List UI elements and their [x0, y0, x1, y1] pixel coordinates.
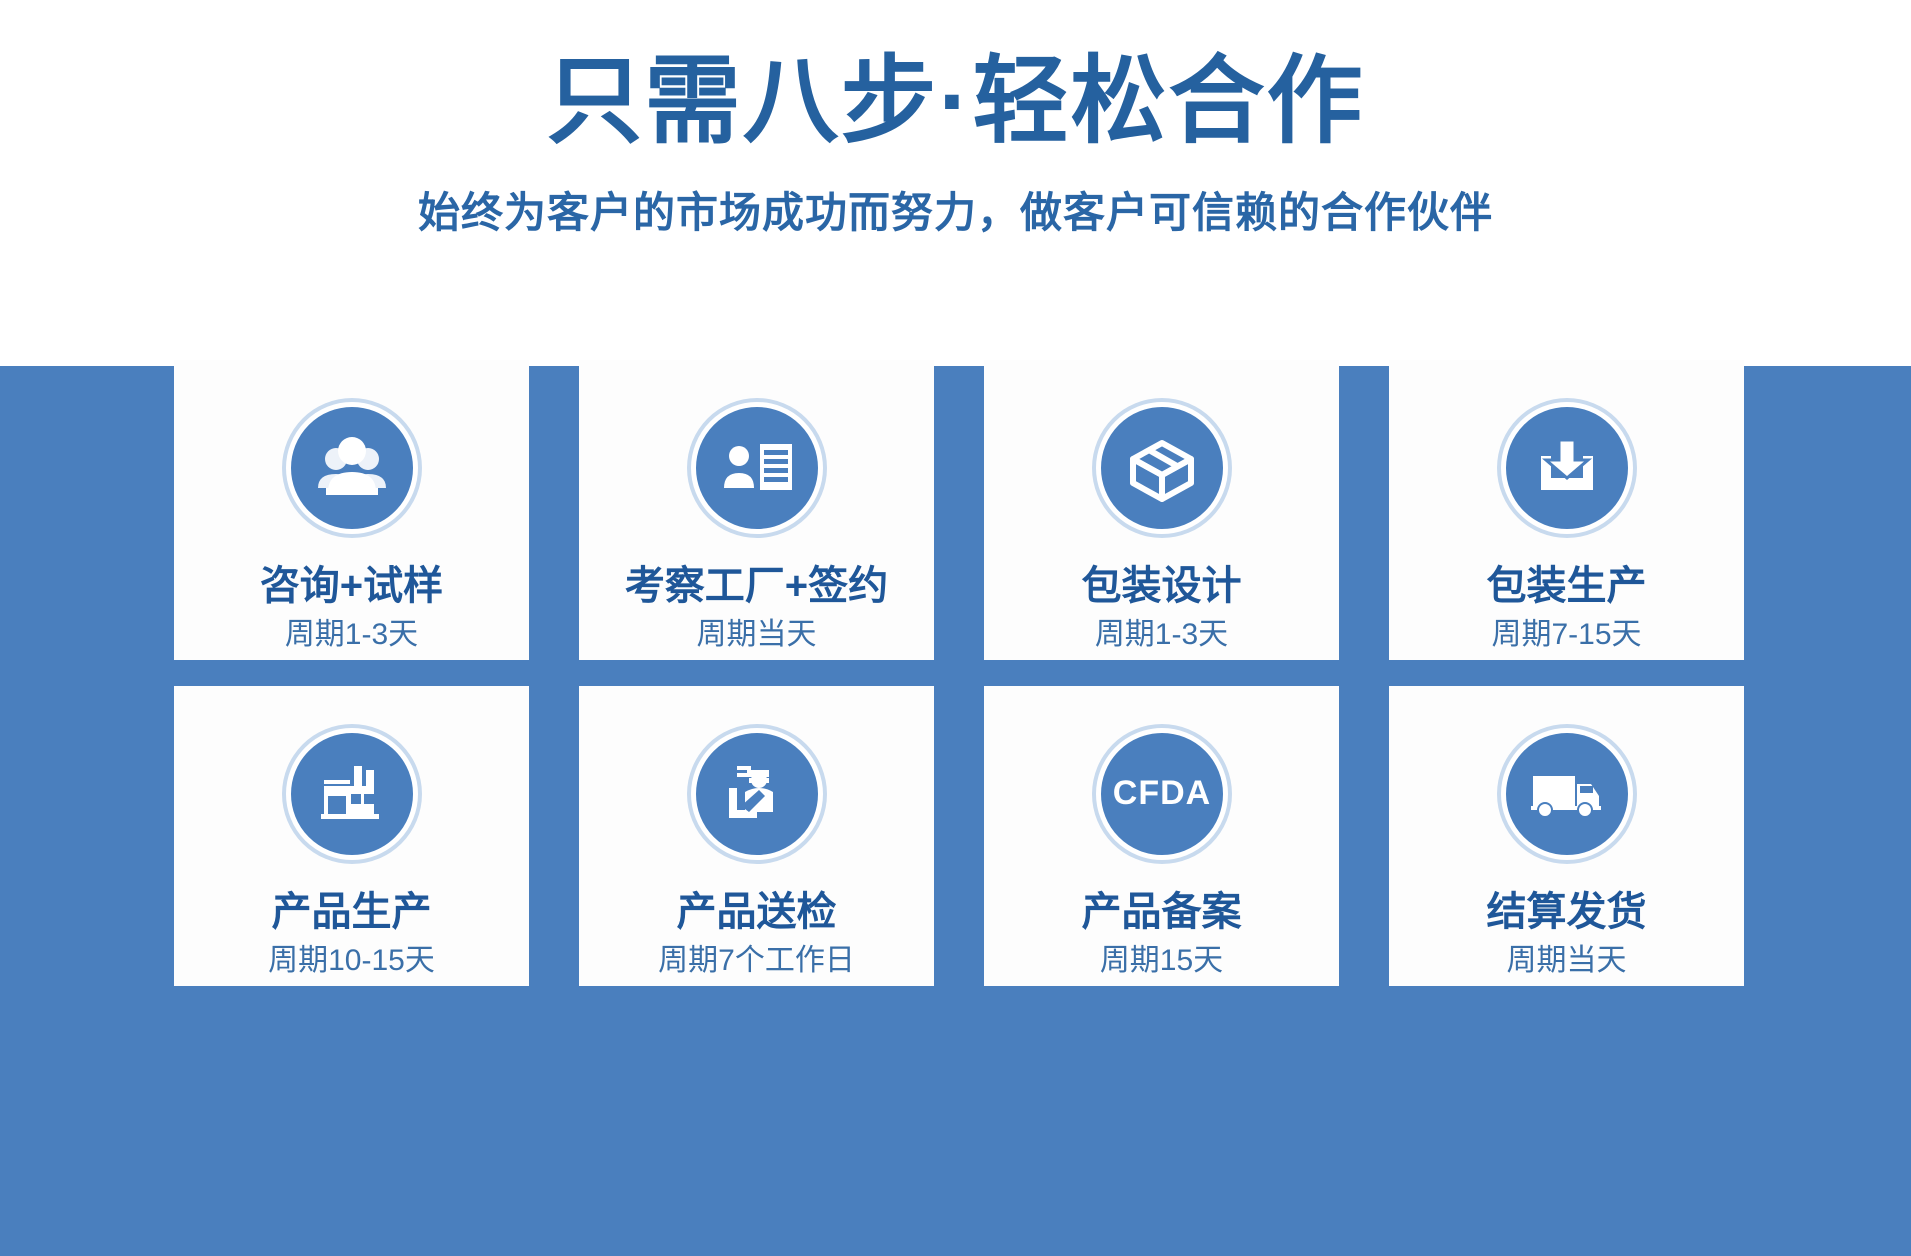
step-title: 包装生产 [1487, 564, 1647, 608]
step-title: 产品备案 [1082, 890, 1242, 934]
page-subtitle: 始终为客户的市场成功而努力，做客户可信赖的合作伙伴 [418, 179, 1493, 240]
inspector-officer-icon [691, 728, 823, 860]
step-card-8[interactable]: 结算发货 周期当天 [1389, 686, 1744, 986]
cfda-badge-icon: CFDA [1096, 728, 1228, 860]
group-people-icon [286, 402, 418, 534]
step-title: 结算发货 [1487, 890, 1647, 934]
step-title: 包装设计 [1082, 564, 1242, 608]
steps-band: 咨询+试样 周期1-3天 考察工厂+签约 周期 [0, 366, 1911, 1256]
step-title: 产品生产 [272, 890, 432, 934]
person-document-icon [691, 402, 823, 534]
page-title: 只需八步·轻松合作 [547, 52, 1365, 153]
step-duration: 周期当天 [697, 618, 817, 651]
cfda-badge-label: CFDA [1112, 774, 1210, 812]
download-tray-icon [1501, 402, 1633, 534]
factory-icon [286, 728, 418, 860]
step-duration: 周期1-3天 [1095, 618, 1228, 651]
step-duration: 周期1-3天 [285, 618, 418, 651]
step-duration: 周期15天 [1100, 944, 1223, 977]
steps-grid: 咨询+试样 周期1-3天 考察工厂+签约 周期 [174, 360, 1744, 986]
delivery-truck-icon [1501, 728, 1633, 860]
step-card-6[interactable]: 产品送检 周期7个工作日 [579, 686, 934, 986]
step-card-3[interactable]: 包装设计 周期1-3天 [984, 360, 1339, 660]
step-title: 咨询+试样 [260, 564, 443, 608]
step-title: 考察工厂+签约 [625, 564, 888, 608]
step-title: 产品送检 [677, 890, 837, 934]
step-card-2[interactable]: 考察工厂+签约 周期当天 [579, 360, 934, 660]
header-section: 只需八步·轻松合作 始终为客户的市场成功而努力，做客户可信赖的合作伙伴 [0, 0, 1911, 366]
step-duration: 周期当天 [1507, 944, 1627, 977]
step-card-4[interactable]: 包装生产 周期7-15天 [1389, 360, 1744, 660]
step-card-5[interactable]: 产品生产 周期10-15天 [174, 686, 529, 986]
step-card-7[interactable]: CFDA 产品备案 周期15天 [984, 686, 1339, 986]
step-card-1[interactable]: 咨询+试样 周期1-3天 [174, 360, 529, 660]
step-duration: 周期7个工作日 [658, 944, 855, 977]
step-duration: 周期7-15天 [1491, 618, 1641, 651]
eight-step-cooperation-infographic: 只需八步·轻松合作 始终为客户的市场成功而努力，做客户可信赖的合作伙伴 [0, 0, 1911, 1256]
step-duration: 周期10-15天 [268, 944, 435, 977]
open-box-icon [1096, 402, 1228, 534]
